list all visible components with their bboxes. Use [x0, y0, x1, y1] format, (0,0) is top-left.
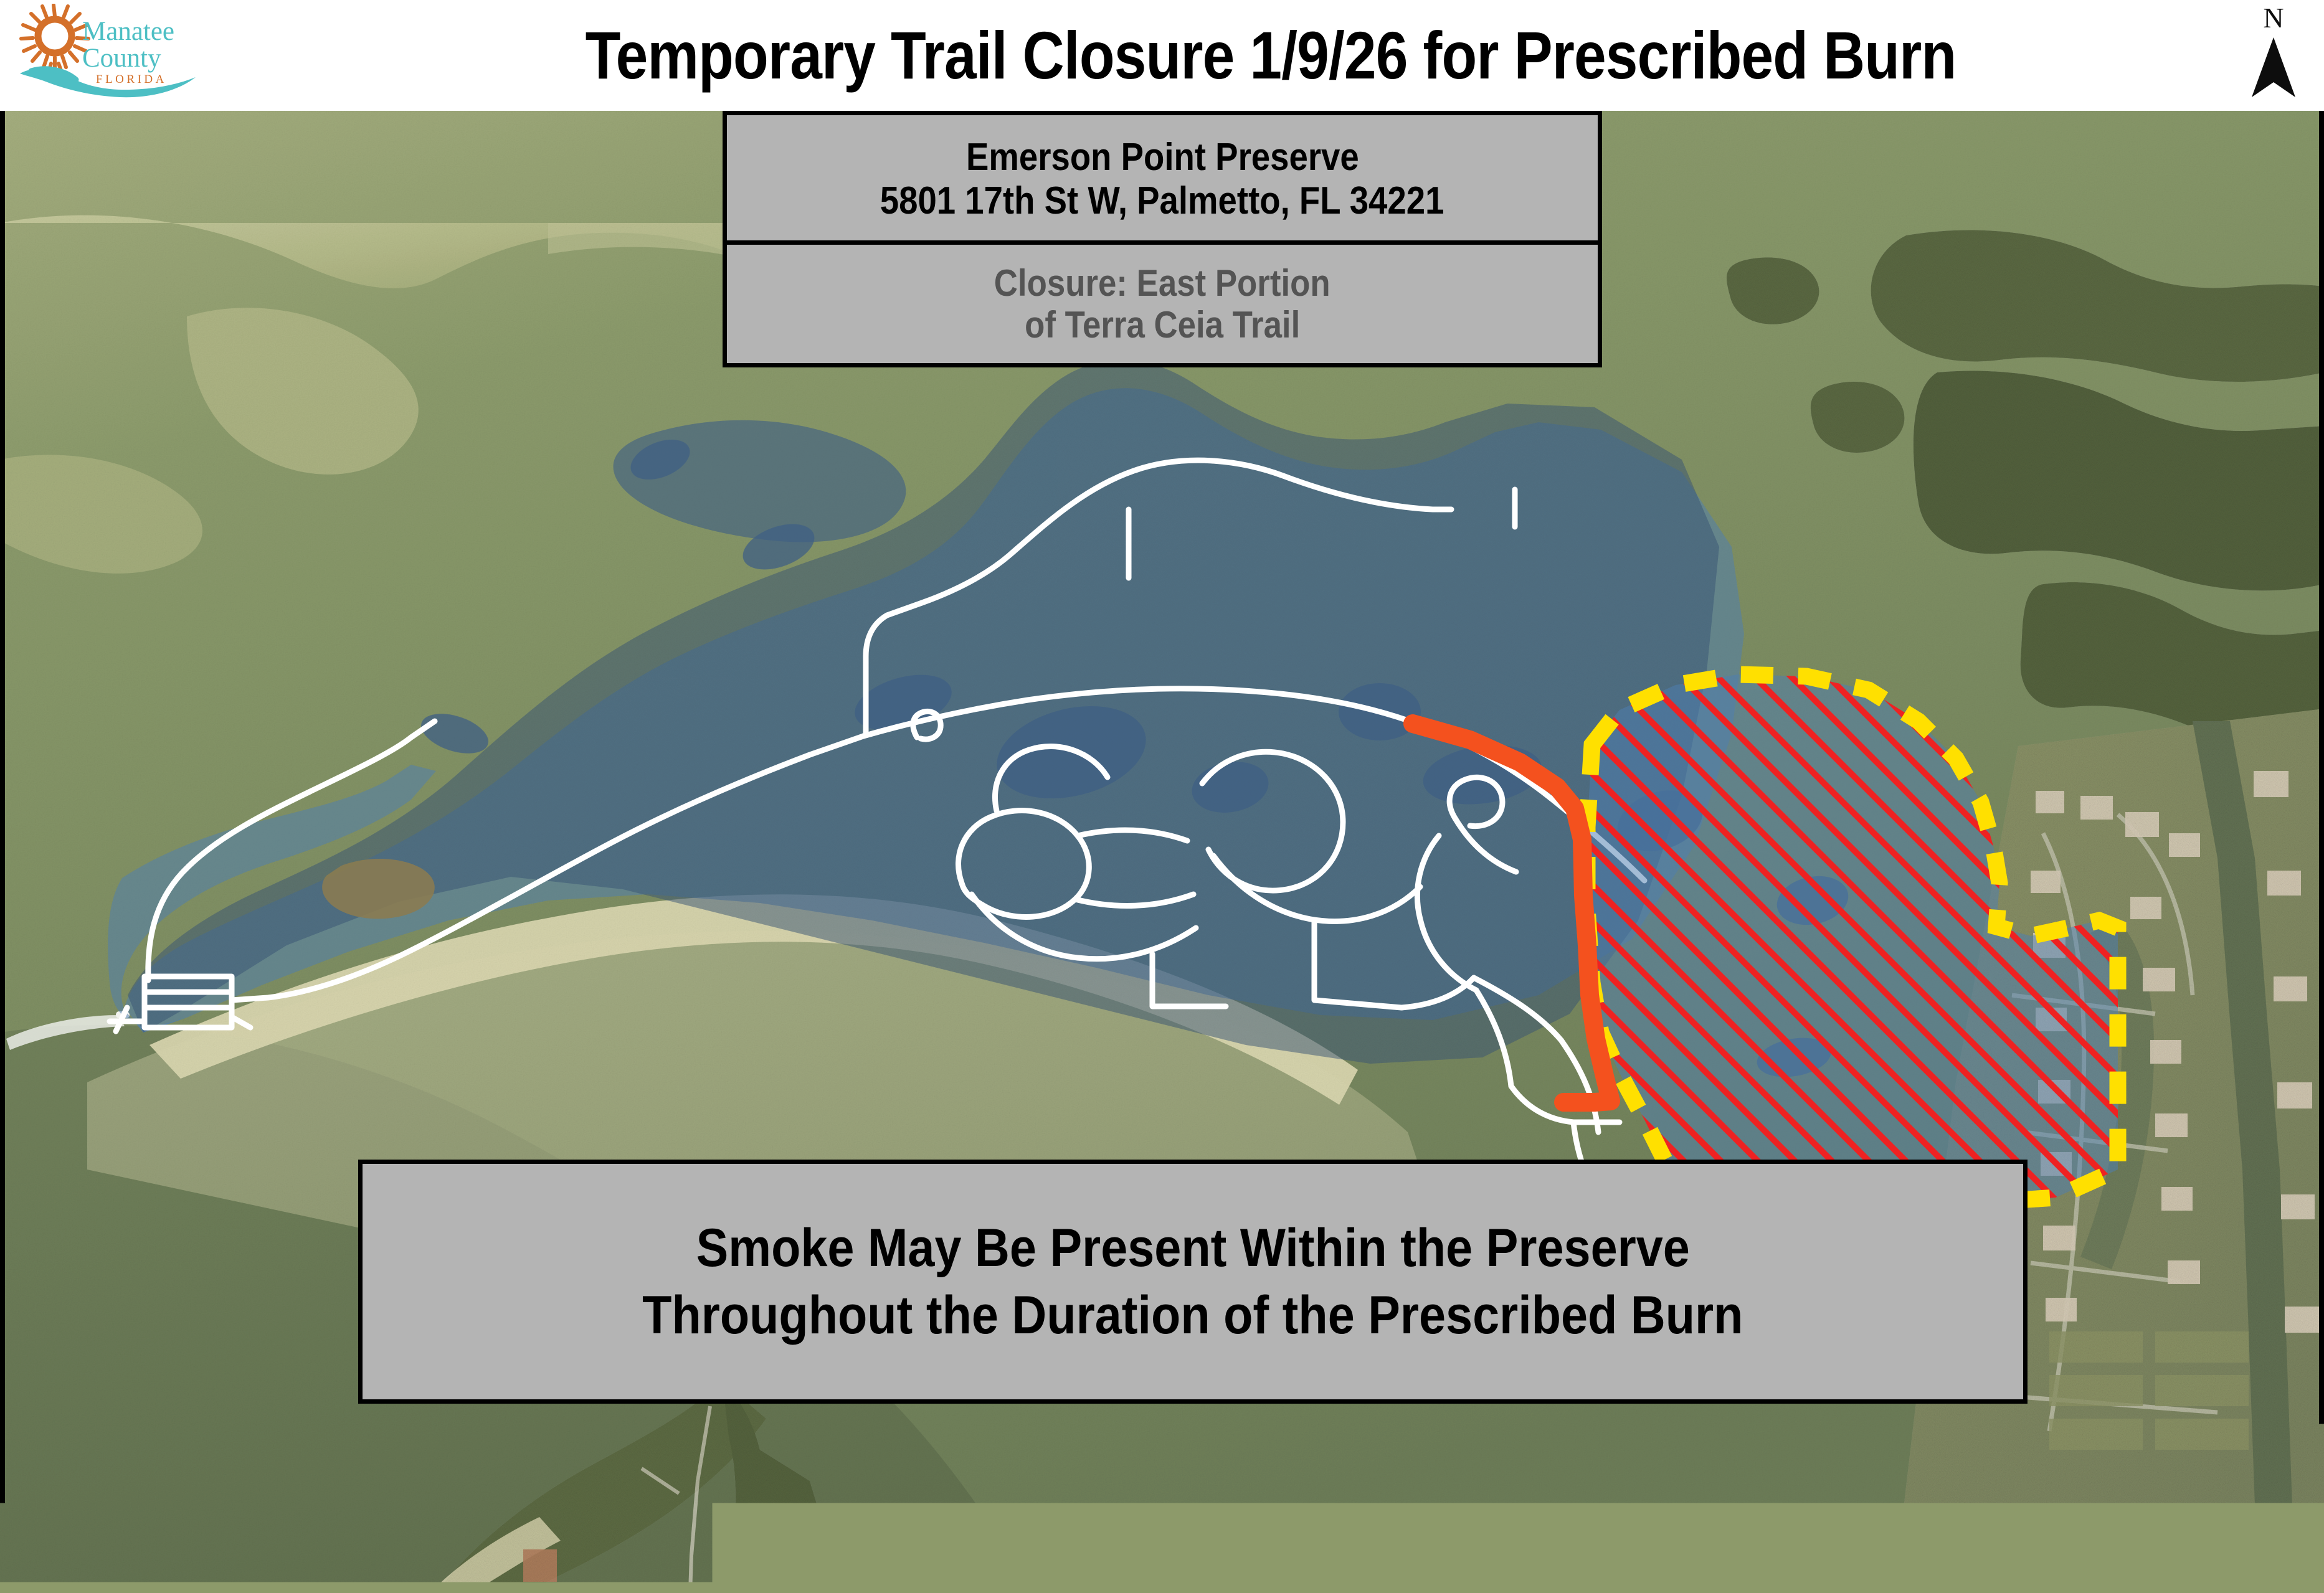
closure-line-1: Closure: East Portion — [994, 262, 1330, 304]
mud-pond-west — [322, 859, 435, 919]
north-arrow-label: N — [2239, 4, 2308, 32]
trail-closure-poster: Manatee County FLORIDA Temporary Trail C… — [0, 0, 2324, 1593]
north-arrow: N — [2239, 2, 2308, 107]
poster-header: Manatee County FLORIDA Temporary Trail C… — [0, 0, 2324, 111]
preserve-name: Emerson Point Preserve — [966, 136, 1359, 179]
preserve-info-box: Emerson Point Preserve 5801 17th St W, P… — [723, 111, 1602, 367]
logo-text-manatee: Manatee — [82, 17, 174, 46]
smoke-warning-line-1: Smoke May Be Present Within the Preserve — [696, 1214, 1689, 1282]
logo-text-florida: FLORIDA — [96, 73, 167, 86]
preserve-address: 5801 17th St W, Palmetto, FL 34221 — [880, 179, 1444, 222]
logo-text-county: County — [82, 44, 161, 73]
page-title: Temporary Trail Closure 1/9/26 for Presc… — [478, 5, 2064, 105]
manatee-county-logo: Manatee County FLORIDA — [9, 4, 208, 106]
closure-line-2: of Terra Ceia Trail — [1025, 304, 1300, 346]
preserve-info-box-address-section: Emerson Point Preserve 5801 17th St W, P… — [727, 115, 1598, 245]
north-arrow-icon — [2239, 35, 2308, 103]
sun-icon — [21, 5, 88, 77]
logo-svg: Manatee County FLORIDA — [9, 4, 208, 106]
smoke-warning-line-2: Throughout the Duration of the Prescribe… — [642, 1282, 1743, 1349]
smoke-warning-box: Smoke May Be Present Within the Preserve… — [358, 1160, 2028, 1404]
preserve-info-box-closure-section: Closure: East Portion of Terra Ceia Trai… — [727, 245, 1598, 363]
